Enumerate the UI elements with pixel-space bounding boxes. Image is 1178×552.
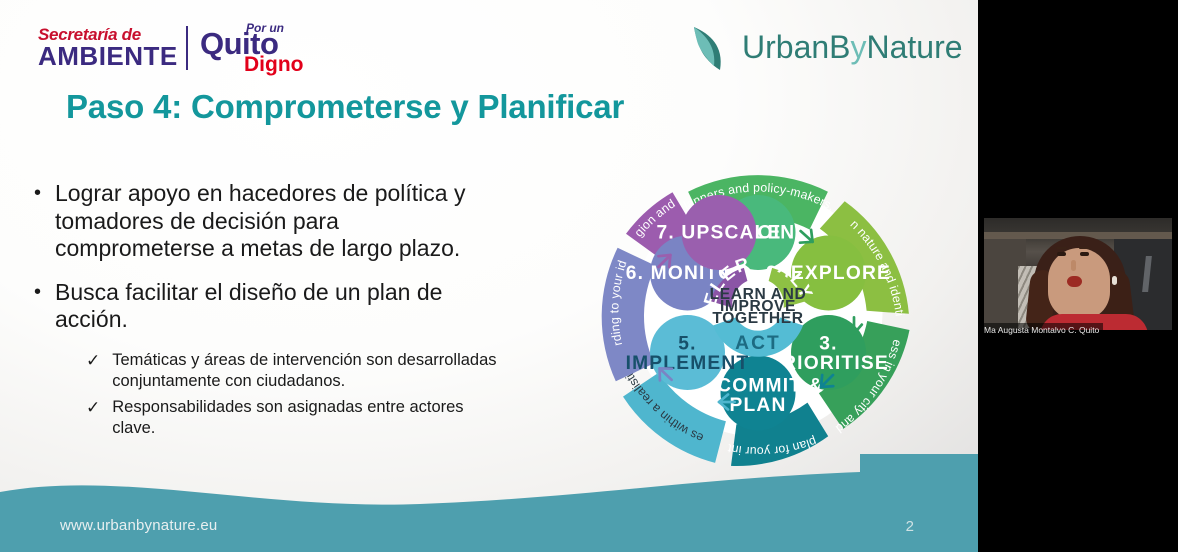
participant-video-tile[interactable]: Ma Augusta Montalvo C. Quito (978, 197, 1178, 345)
participant-eye-left (1057, 252, 1066, 256)
participant-name-label: Ma Augusta Montalvo C. Quito (980, 323, 1103, 336)
urbanbynature-logo: UrbanByNature (690, 22, 963, 72)
urbanbynature-cycle-diagram: Join a community of active subnational a… (548, 132, 968, 492)
checkmark-icon: ✓ (86, 350, 100, 393)
screen-capture: Secretaría de AMBIENTE Por un Quito Dign… (0, 0, 1178, 552)
step-label-implement: IMPLEMENT (626, 353, 750, 374)
bullet-item: • Lograr apoyo en hacedores de política … (34, 180, 504, 263)
footer-page-number: 2 (906, 518, 914, 535)
ring-text-monitor: Monitor your implementation progress acc… (548, 132, 630, 347)
step-label-upscale: 7. UPSCALE (656, 223, 781, 244)
logo-divider (186, 26, 188, 70)
slide-body: • Lograr apoyo en hacedores de política … (34, 180, 504, 444)
wheel-core: LEARN AND IMPROVE TOGETHER (710, 279, 807, 331)
video-conference-panel: Ma Augusta Montalvo C. Quito (978, 0, 1178, 552)
phase-label-act: ACT (735, 333, 781, 354)
bullet-text: Lograr apoyo en hacedores de política y … (55, 180, 504, 263)
ubn-word-part3: Nature (867, 29, 963, 65)
sub-bullet-text: Responsabilidades son asignadas entre ac… (112, 397, 504, 440)
ring-segment-monitor: Monitor your implementation progress acc… (548, 132, 656, 381)
bullet-item: • Busca facilitar el diseño de un plan d… (34, 279, 504, 334)
participant-earring (1112, 276, 1117, 285)
participant-mouth (1067, 276, 1082, 287)
bullet-text: Busca facilitar el diseño de un plan de … (55, 279, 504, 334)
sub-bullet-item: ✓ Temáticas y áreas de intervención son … (86, 350, 504, 393)
footer-url: www.urbanbynature.eu (60, 517, 217, 534)
quito-logo-subtext: Digno (244, 54, 303, 75)
urbanbynature-wordmark: UrbanByNature (742, 31, 963, 63)
svg-text:Monitor your implementation pr: Monitor your implementation progress acc… (548, 132, 630, 347)
secretaria-ambiente-logo: Secretaría de AMBIENTE (38, 26, 178, 70)
urbanbynature-leaf-icon (690, 22, 736, 72)
participant-brow-right (1079, 247, 1090, 249)
secretaria-logo-bottom-text: AMBIENTE (38, 43, 178, 70)
sub-bullet-list: ✓ Temáticas y áreas de intervención son … (86, 350, 504, 440)
footer-wave-graphic (0, 452, 978, 552)
cycle-wheel-svg: Join a community of active subnational a… (548, 132, 968, 492)
participant-video-feed (984, 218, 1172, 330)
step-label-implement-num: 5. (678, 334, 696, 355)
ubn-word-part1: UrbanB (742, 29, 851, 65)
page-title: Paso 4: Comprometerse y Planificar (66, 88, 624, 126)
participant-eye-right (1080, 252, 1089, 256)
presentation-slide: Secretaría de AMBIENTE Por un Quito Dign… (0, 0, 978, 552)
bullet-marker: • (34, 279, 41, 334)
sub-bullet-text: Temáticas y áreas de intervención son de… (112, 350, 504, 393)
checkmark-icon: ✓ (86, 397, 100, 440)
bullet-marker: • (34, 180, 41, 263)
participant-brow-left (1056, 247, 1067, 249)
sub-bullet-item: ✓ Responsabilidades son asignadas entre … (86, 397, 504, 440)
quito-digno-logo: Por un Quito Digno (200, 22, 310, 74)
participant-nose (1071, 260, 1076, 271)
step-label-plan: PLAN (729, 395, 786, 416)
ubn-word-part2: y (851, 29, 867, 65)
core-label-line3: TOGETHER (712, 310, 803, 327)
step-label-prioritise-num: 3. (819, 334, 837, 355)
